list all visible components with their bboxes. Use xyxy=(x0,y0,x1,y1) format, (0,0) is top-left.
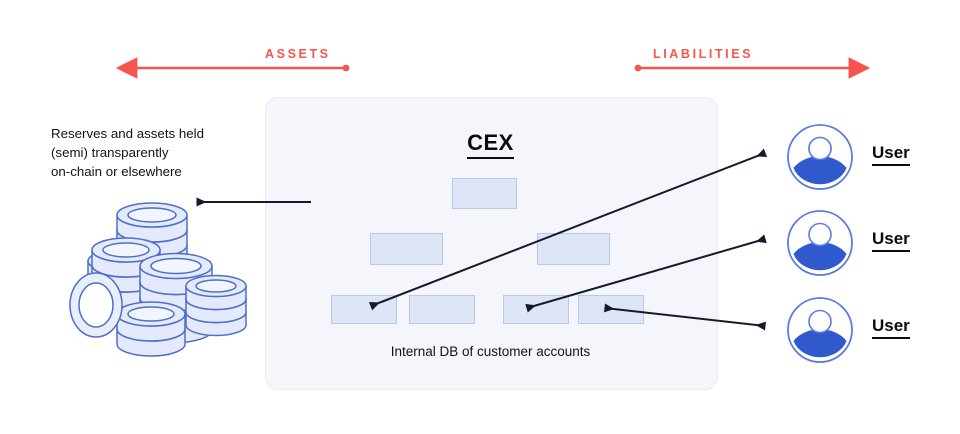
internal-db-caption: Internal DB of customer accounts xyxy=(265,344,716,359)
user-avatar-icon xyxy=(786,296,854,364)
user-label-0: User xyxy=(872,143,910,166)
arrow-leaf0-user1 xyxy=(371,153,765,306)
user-avatar-icon xyxy=(786,123,854,191)
cex-title-text: CEX xyxy=(467,130,514,159)
user-row-0[interactable]: User xyxy=(786,123,946,195)
diagram-canvas: ASSETS LIABILITIES xyxy=(0,0,960,434)
cex-title: CEX xyxy=(265,130,716,156)
user-avatar-icon xyxy=(786,209,854,277)
arrow-leaf3-user3 xyxy=(605,308,765,326)
user-label-2: User xyxy=(872,316,910,339)
arrow-leaf2-user2 xyxy=(527,239,765,308)
user-row-2[interactable]: User xyxy=(786,296,946,368)
user-row-1[interactable]: User xyxy=(786,209,946,281)
user-label-1: User xyxy=(872,229,910,252)
